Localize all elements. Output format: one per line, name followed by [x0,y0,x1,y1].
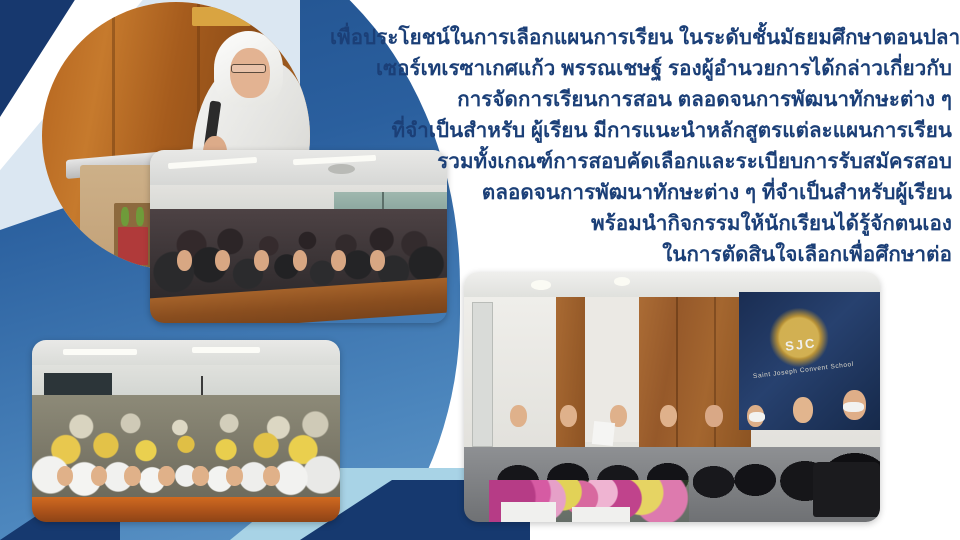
body-text-line: ในการตัดสินใจเลือกเพื่อศึกษาต่อ [330,239,952,270]
photo-stage-panel: SJC Saint Joseph Convent School [464,272,880,522]
body-text-line: ที่จำเป็นสำหรับ ผู้เรียน มีการแนะนำหลักส… [330,115,952,146]
body-text-line: ตลอดจนการพัฒนาทักษะต่าง ๆ ที่จำเป็นสำหรั… [330,177,952,208]
face-mask-icon [749,412,766,422]
body-text-line: เซอร์เทเรซาเกศแก้ว พรรณเชษฐ์ รองผู้อำนวย… [330,53,952,84]
face-mask-icon [843,402,864,412]
body-text-line: รวมทั้งเกณฑ์การสอบคัดเลือกและระเบียบการร… [330,146,952,177]
wall-plaque-icon [192,7,251,26]
body-text-line: พร้อมนำกิจกรรมให้นักเรียนได้รู้จักตนเอง [330,208,952,239]
office-chair-icon [813,462,880,517]
photo-students-audience [32,340,340,522]
body-text-block: เพื่อประโยชน์ในการเลือกแผนการเรียน ในระด… [330,22,952,270]
paper-sheet-icon [592,421,615,446]
body-text-line: เพื่อประโยชน์ในการเลือกแผนการเรียน ในระด… [330,22,952,53]
slide-canvas: SJC Saint Joseph Convent School เพื่อประ… [0,0,960,540]
body-text-line: การจัดการเรียนการสอน ตลอดจนการพัฒนาทักษะ… [330,84,952,115]
glasses-icon [231,64,266,74]
